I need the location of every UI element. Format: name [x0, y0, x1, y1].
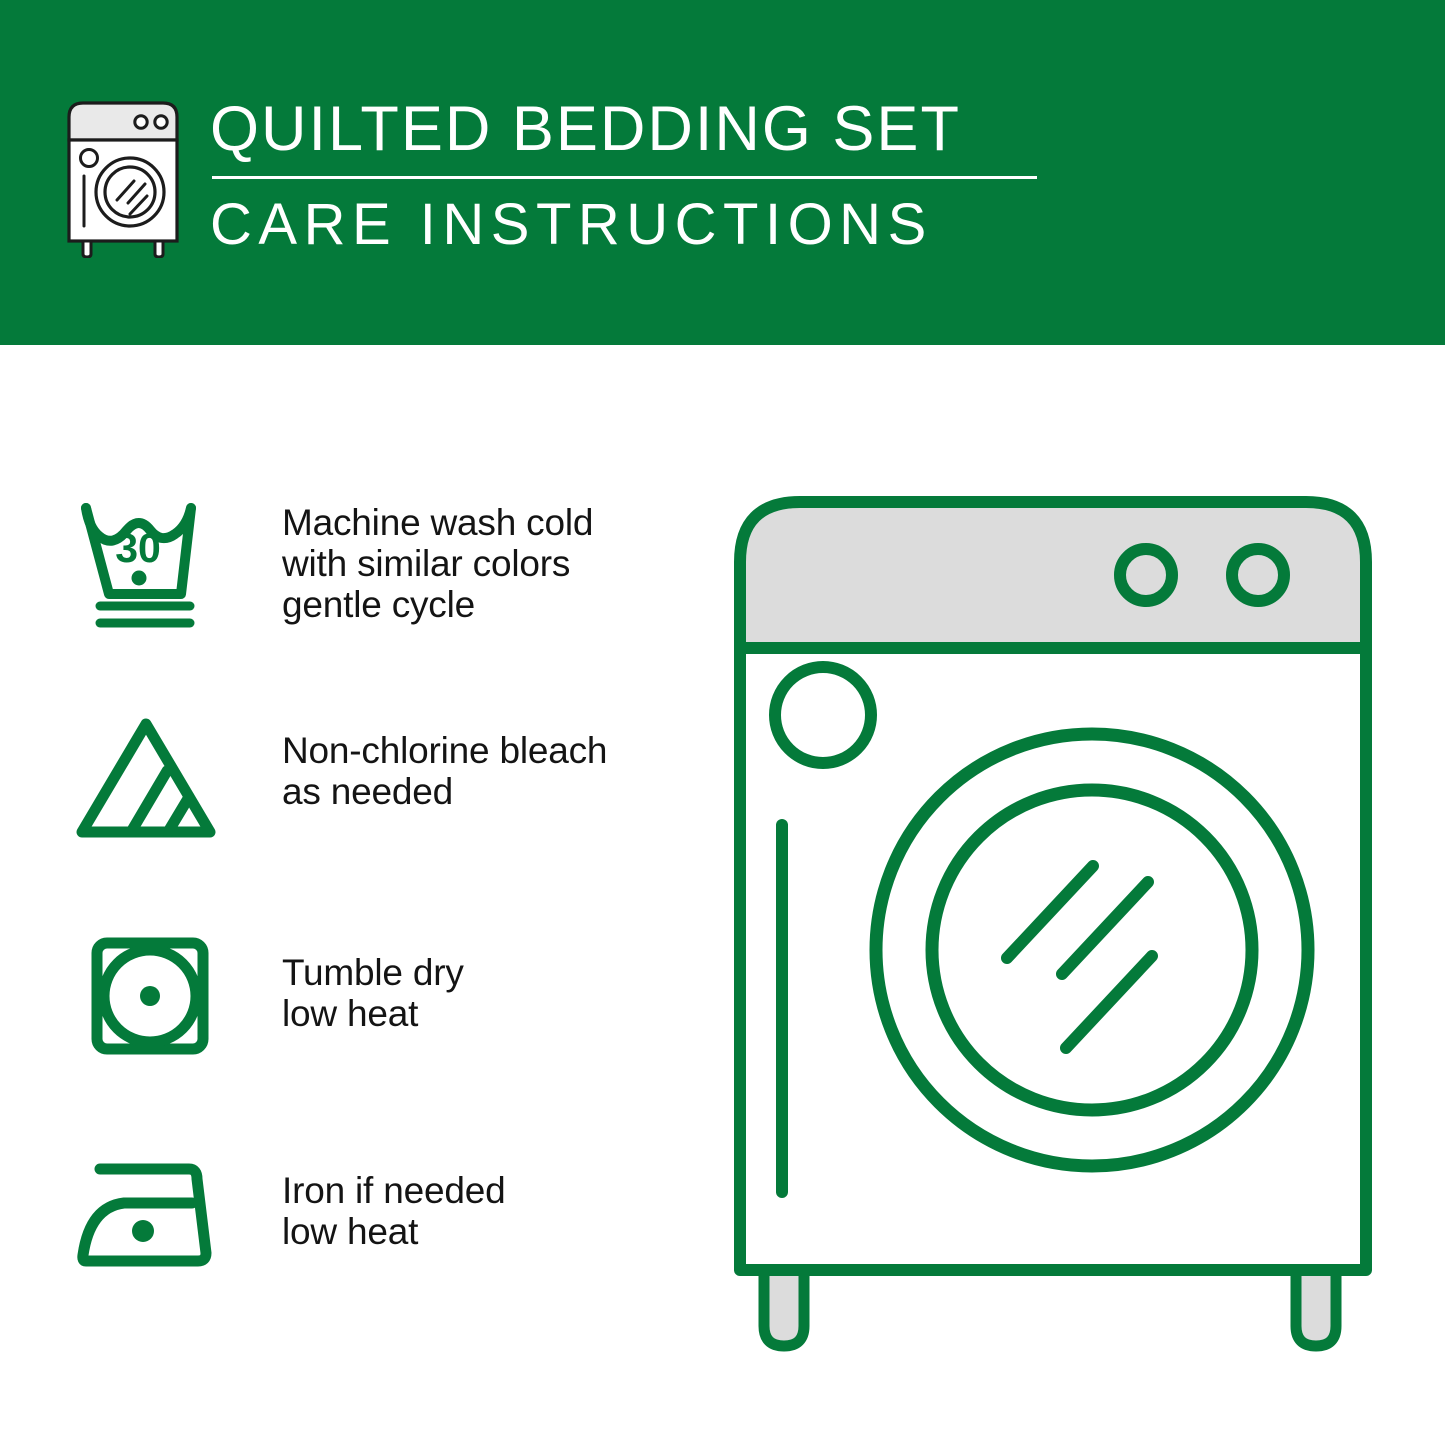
front-load-washing-machine-illustration [718, 470, 1418, 1370]
washing-machine-icon [62, 100, 184, 258]
title-divider [212, 176, 1037, 179]
care-instruction-item: 30 Machine wash cold with similar colors… [60, 480, 700, 698]
care-instructions-poster: QUILTED BEDDING SET CARE INSTRUCTIONS 30 [0, 0, 1445, 1445]
bleach-triangle-icon [60, 698, 240, 858]
tumble-dry-icon [60, 916, 240, 1076]
care-instruction-label: Tumble dry low heat [240, 916, 464, 1034]
care-instruction-item: Tumble dry low heat [60, 916, 700, 1134]
care-instruction-label: Non-chlorine bleach as needed [240, 698, 607, 812]
wash-temp-value: 30 [115, 525, 161, 571]
care-instruction-item: Non-chlorine bleach as needed [60, 698, 700, 916]
machine-detergent-port [775, 667, 871, 763]
header-band: QUILTED BEDDING SET CARE INSTRUCTIONS [0, 0, 1445, 345]
page-subtitle: CARE INSTRUCTIONS [210, 191, 1050, 259]
care-instruction-item: Iron if needed low heat [60, 1134, 700, 1352]
header-text-block: QUILTED BEDDING SET CARE INSTRUCTIONS [210, 92, 1050, 259]
iron-icon [60, 1134, 240, 1294]
care-instruction-label: Iron if needed low heat [240, 1134, 505, 1252]
machine-knob-left [1120, 549, 1172, 601]
care-instruction-list: 30 Machine wash cold with similar colors… [60, 480, 700, 1352]
header-content: QUILTED BEDDING SET CARE INSTRUCTIONS [62, 92, 1022, 272]
page-title: QUILTED BEDDING SET [210, 92, 1050, 166]
wash-tub-30-icon: 30 [60, 480, 240, 640]
care-instruction-label: Machine wash cold with similar colors ge… [240, 480, 593, 625]
machine-knob-right [1232, 549, 1284, 601]
